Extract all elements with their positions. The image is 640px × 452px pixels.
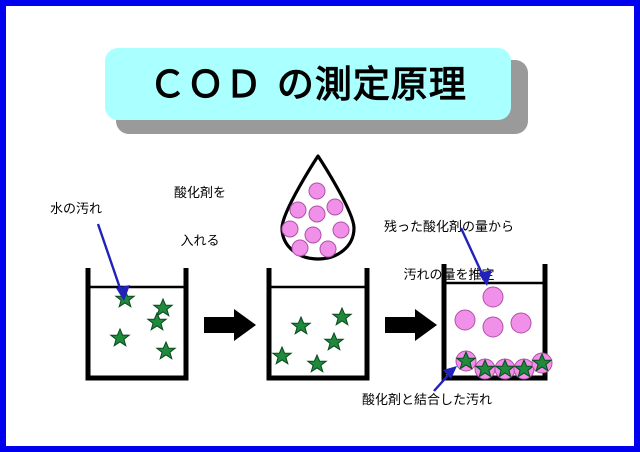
bonded-particle [514, 359, 534, 379]
callout-arrow-water-pollution [98, 224, 130, 301]
bonded-particle [475, 359, 495, 379]
bonded-particle [532, 353, 552, 373]
beaker-3-bonded-particles [456, 351, 552, 379]
flow-arrow-1 [204, 309, 256, 341]
bonded-particle [456, 351, 476, 371]
beaker-2-pollution-stars [273, 308, 351, 372]
beaker-1 [88, 268, 186, 378]
beaker-3-free-oxidizer-circles [455, 287, 531, 337]
beaker-3 [444, 264, 552, 379]
diagram-canvas [6, 6, 634, 446]
oxidizer-droplet [282, 156, 354, 259]
beaker-2 [269, 268, 367, 378]
bonded-particle [495, 359, 515, 379]
beaker-1-pollution-stars [111, 290, 175, 359]
slide-root: ＣＯＤ の測定原理 水の汚れ 酸化剤を 入れる 残った酸化剤の量から 汚れの量を… [0, 0, 640, 452]
callout-arrow-remaining-oxidizer [461, 228, 492, 286]
flow-arrow-2 [385, 309, 437, 341]
